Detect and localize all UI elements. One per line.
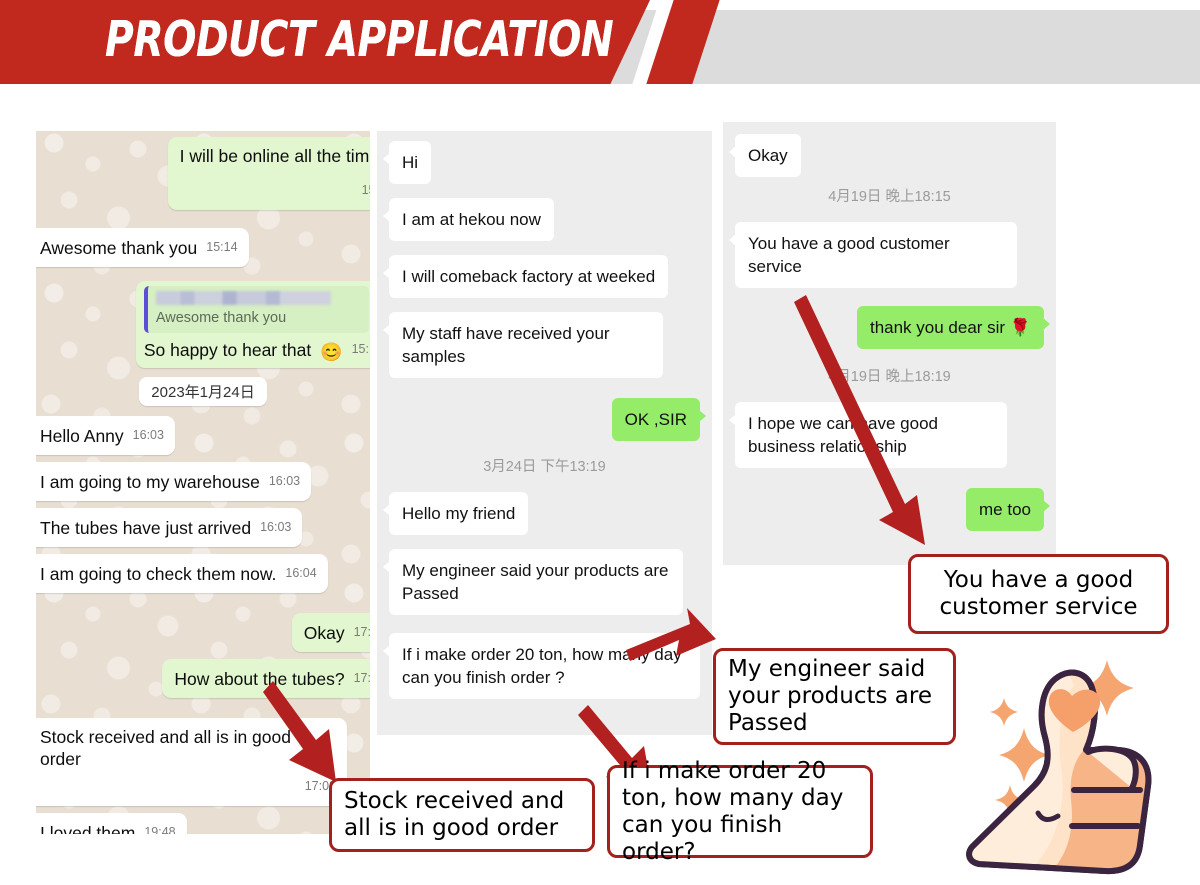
chat-bubble-incoming: I will comeback factory at weeked (389, 255, 668, 298)
chat-bubble-incoming: Hi (389, 141, 431, 184)
wechat-message-list: Hi I am at hekou now I will comeback fac… (377, 131, 712, 723)
message-time: 16:03 (133, 424, 164, 447)
smiling-face-emoji: 😊 (320, 343, 342, 361)
chat-bubble-incoming: I am at hekou now (389, 198, 554, 241)
page-title: PRODUCT APPLICATION (105, 9, 613, 71)
message-row: OK ,SIR (389, 398, 700, 441)
chat-bubble-incoming: Stock received and all is in good order … (36, 718, 347, 806)
whatsapp-message-list: I will be online all the time 15: Awesom… (36, 137, 370, 834)
wechat-message-list: Okay 4月19日 晚上18:15 You have a good custo… (723, 122, 1056, 555)
chat-bubble-outgoing: How about the tubes? 17: (162, 659, 370, 698)
message-row: I will be online all the time 15: (36, 137, 370, 210)
chat-bubble-outgoing: Awesome thank you So happy to hear that … (136, 281, 370, 368)
chat-bubble-outgoing: Okay 17: (292, 613, 370, 652)
message-time: 16:03 (260, 516, 291, 539)
chat-bubble-incoming: I loved them 19:48 (36, 813, 187, 834)
message-row: thank you dear sir 🌹 (735, 306, 1044, 349)
message-text: How about the tubes? (174, 668, 344, 690)
date-separator: 4月19日 晚上18:15 (735, 185, 1044, 206)
thumbs-up-illustration (962, 640, 1197, 885)
message-row: I am at hekou now (389, 198, 700, 241)
message-time: 17: (354, 621, 370, 644)
chat-bubble-incoming: My engineer said your products are Passe… (389, 549, 683, 615)
chat-bubble-incoming: Awesome thank you 15:14 (36, 228, 249, 267)
message-row: How about the tubes? 17: (36, 659, 370, 698)
chat-screenshot-wechat-middle: Hi I am at hekou now I will comeback fac… (377, 131, 712, 735)
message-row: If i make order 20 ton, how many day can… (389, 633, 700, 699)
message-time: 15: (362, 179, 370, 202)
page-header: PRODUCT APPLICATION (0, 0, 1200, 84)
callout-engineer-passed: My engineer said your products are Passe… (713, 648, 956, 745)
message-text: Hello Anny (40, 425, 124, 447)
callout-order-question: If i make order 20 ton, how many day can… (607, 765, 873, 858)
message-row: I hope we can have good business relatio… (735, 402, 1044, 468)
message-row: The tubes have just arrived 16:03 (36, 508, 370, 547)
chat-bubble-incoming: I am going to my warehouse 16:03 (36, 462, 311, 501)
redacted-name-bar (156, 291, 331, 305)
message-row: Hi (389, 141, 700, 184)
date-separator: 4月19日 晚上18:19 (735, 365, 1044, 386)
message-text: So happy to hear that (144, 339, 311, 361)
chat-bubble-outgoing: thank you dear sir 🌹 (857, 306, 1044, 349)
message-text: Stock received and all is in good order (40, 726, 336, 770)
message-time: 19:48 (144, 821, 175, 834)
message-row: Okay 17: (36, 613, 370, 652)
chat-bubble-incoming: My staff have received your samples (389, 312, 663, 378)
message-row: I am going to check them now. 16:04 (36, 554, 370, 593)
chat-bubble-incoming: Okay (735, 134, 801, 177)
message-row: Awesome thank you 15:14 (36, 228, 370, 267)
message-row-quoted-reply: Awesome thank you So happy to hear that … (36, 281, 370, 368)
message-time: 16:03 (269, 470, 300, 493)
date-separator: 3月24日 下午13:19 (389, 455, 700, 476)
sparkle-icon-small-a (990, 698, 1018, 726)
message-row: Hello my friend (389, 492, 700, 535)
chat-bubble-incoming: Hello my friend (389, 492, 528, 535)
chat-bubble-incoming: Hello Anny 16:03 (36, 416, 175, 455)
date-separator: 2023年1月24日 (139, 377, 266, 406)
chat-bubble-outgoing: me too (966, 488, 1044, 531)
message-row: I am going to my warehouse 16:03 (36, 462, 370, 501)
message-row: Stock received and all is in good order … (36, 718, 370, 806)
chat-bubble-incoming: I am going to check them now. 16:04 (36, 554, 328, 593)
message-text: I am going to check them now. (40, 563, 276, 585)
message-row: My engineer said your products are Passe… (389, 549, 700, 615)
message-text: I loved them (40, 822, 135, 834)
message-row: me too (735, 488, 1044, 531)
message-row: You have a good customer service (735, 222, 1044, 288)
message-text: The tubes have just arrived (40, 517, 251, 539)
chat-bubble-incoming: The tubes have just arrived 16:03 (36, 508, 302, 547)
message-time: 15:14 (206, 236, 237, 259)
message-row: I loved them 19:48 (36, 813, 370, 834)
chat-screenshot-whatsapp: I will be online all the time 15: Awesom… (36, 131, 370, 834)
chat-bubble-incoming: I hope we can have good business relatio… (735, 402, 1007, 468)
callout-stock-received: Stock received and all is in good order (329, 778, 595, 852)
chat-bubble-outgoing: OK ,SIR (612, 398, 700, 441)
message-time: 17: (354, 667, 370, 690)
message-row: I will comeback factory at weeked (389, 255, 700, 298)
message-time: 16:04 (285, 562, 316, 585)
chat-bubble-outgoing: I will be online all the time 15: (168, 137, 370, 210)
chat-screenshot-wechat-right: Okay 4月19日 晚上18:15 You have a good custo… (723, 122, 1056, 565)
callout-customer-service: You have a good customer service (908, 554, 1169, 634)
message-text: I will be online all the time (180, 145, 370, 167)
message-text: Awesome thank you (40, 237, 197, 259)
message-text: Okay (304, 622, 345, 644)
message-row: Hello Anny 16:03 (36, 416, 370, 455)
hand-shape (969, 673, 1148, 872)
chat-bubble-incoming: You have a good customer service (735, 222, 1017, 288)
message-row: My staff have received your samples (389, 312, 700, 378)
chat-bubble-incoming: If i make order 20 ton, how many day can… (389, 633, 700, 699)
message-text: I am going to my warehouse (40, 471, 260, 493)
message-time: 15: (352, 338, 369, 361)
message-row: Okay (735, 134, 1044, 177)
quoted-message: Awesome thank you (144, 286, 369, 333)
quoted-message-text: Awesome thank you (156, 310, 361, 327)
